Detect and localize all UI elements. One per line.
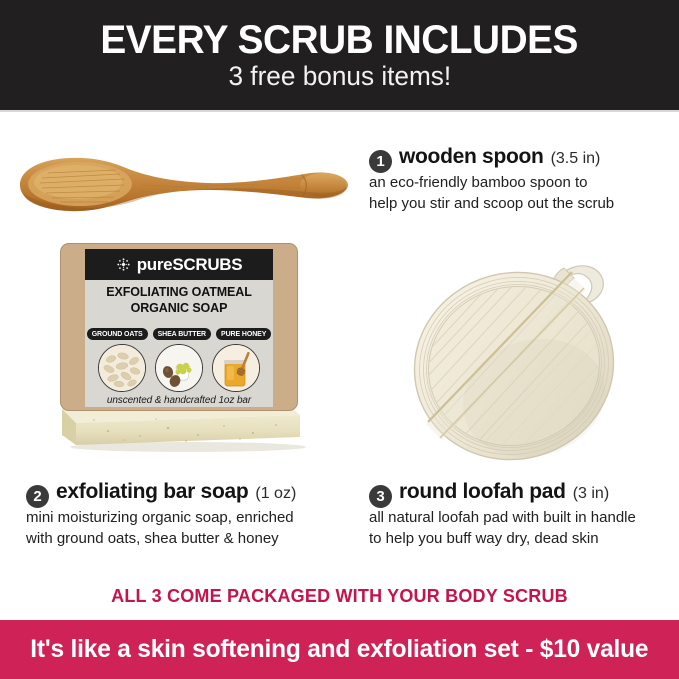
oats-circle-icon: [98, 344, 146, 392]
value-banner: It's like a skin softening and exfoliati…: [0, 620, 679, 679]
ingredient-photo-row: [85, 344, 273, 392]
item-2-size: (1 oz): [255, 485, 296, 503]
item-1-heading: 1 wooden spoon (3.5 in): [369, 145, 674, 170]
mandala-ornament-icon: [116, 257, 131, 272]
item-3-description: all natural loofah pad with built in han…: [369, 508, 679, 549]
soap-headline-line-1: EXFOLIATING OATMEAL: [85, 285, 273, 301]
item-2-number-badge: 2: [26, 485, 49, 508]
item-2-title: exfoliating bar soap: [56, 480, 248, 504]
soap-label-panel: pureSCRUBS EXFOLIATING OATMEAL ORGANIC S…: [85, 249, 273, 407]
ingredient-badge-honey: PURE HONEY: [216, 328, 271, 340]
ingredient-badge-oats: GROUND OATS: [87, 328, 148, 340]
item-3-number-badge: 3: [369, 485, 392, 508]
header-banner: EVERY SCRUB INCLUDES 3 free bonus items!: [0, 0, 679, 110]
item-3-size: (3 in): [573, 485, 609, 503]
item-1-size: (3.5 in): [551, 150, 601, 168]
page-title: EVERY SCRUB INCLUDES: [101, 20, 579, 60]
item-2-desc-line-2: with ground oats, shea butter & honey: [26, 529, 346, 550]
soap-headline-line-2: ORGANIC SOAP: [85, 301, 273, 317]
wooden-spoon-image: [8, 142, 353, 227]
item-2-heading: 2 exfoliating bar soap (1 oz): [26, 480, 346, 505]
item-3-title: round loofah pad: [399, 480, 566, 504]
shea-butter-circle-icon: [155, 344, 203, 392]
bar-soap-image: pureSCRUBS EXFOLIATING OATMEAL ORGANIC S…: [48, 243, 310, 458]
soap-brand-bar: pureSCRUBS: [85, 249, 273, 280]
ingredient-badge-shea: SHEA BUTTER: [153, 328, 211, 340]
item-3-desc-line-2: to help you buff way dry, dead skin: [369, 529, 679, 550]
item-2-description: mini moisturizing organic soap, enriched…: [26, 508, 346, 549]
item-1-desc-line-1: an eco-friendly bamboo spoon to: [369, 173, 674, 194]
packaged-note: ALL 3 COME PACKAGED WITH YOUR BODY SCRUB: [0, 586, 679, 607]
item-2-text-block: 2 exfoliating bar soap (1 oz) mini moist…: [26, 480, 346, 549]
ingredient-badge-row: GROUND OATS SHEA BUTTER PURE HONEY: [85, 328, 273, 340]
item-1-desc-line-2: help you stir and scoop out the scrub: [369, 194, 674, 215]
item-3-desc-line-1: all natural loofah pad with built in han…: [369, 508, 679, 529]
item-2-desc-line-1: mini moisturizing organic soap, enriched: [26, 508, 346, 529]
header-divider: [0, 110, 679, 112]
honey-circle-icon: [212, 344, 260, 392]
item-3-text-block: 3 round loofah pad (3 in) all natural lo…: [369, 480, 679, 549]
infographic-page: EVERY SCRUB INCLUDES 3 free bonus items!: [0, 0, 679, 679]
item-1-title: wooden spoon: [399, 145, 544, 169]
value-banner-text: It's like a skin softening and exfoliati…: [30, 635, 648, 664]
item-1-number-badge: 1: [369, 150, 392, 173]
page-subtitle: 3 free bonus items!: [228, 62, 451, 90]
item-1-description: an eco-friendly bamboo spoon to help you…: [369, 173, 674, 214]
soap-brand-name: pureSCRUBS: [137, 255, 243, 275]
loofah-pad-image: [404, 238, 639, 466]
soap-label-footer: unscented & handcrafted 1oz bar: [85, 395, 273, 406]
item-3-heading: 3 round loofah pad (3 in): [369, 480, 679, 505]
item-1-text-block: 1 wooden spoon (3.5 in) an eco-friendly …: [369, 145, 674, 214]
soap-label-headline: EXFOLIATING OATMEAL ORGANIC SOAP: [85, 285, 273, 316]
